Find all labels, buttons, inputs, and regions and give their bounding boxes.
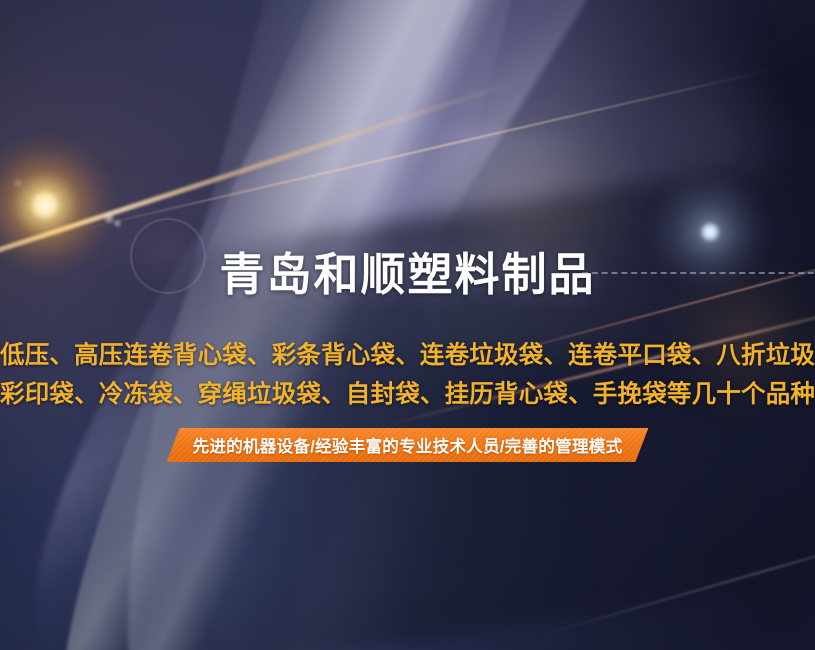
tagline-text: 先进的机器设备/经验丰富的专业技术人员/完善的管理模式 — [193, 433, 623, 457]
tagline-container: 先进的机器设备/经验丰富的专业技术人员/完善的管理模式 — [0, 428, 815, 462]
banner-subtitle-line-1: 低压、高压连卷背心袋、彩条背心袋、连卷垃圾袋、连卷平口袋、八折垃圾袋、 — [0, 336, 815, 371]
banner-title: 青岛和顺塑料制品 — [0, 250, 815, 300]
tagline-badge: 先进的机器设备/经验丰富的专业技术人员/完善的管理模式 — [167, 428, 649, 462]
banner-content: 青岛和顺塑料制品 低压、高压连卷背心袋、彩条背心袋、连卷垃圾袋、连卷平口袋、八折… — [0, 0, 815, 650]
banner-subtitle-line-2: 彩印袋、冷冻袋、穿绳垃圾袋、自封袋、挂历背心袋、手挽袋等几十个品种 — [0, 375, 815, 410]
promotional-banner: 青岛和顺塑料制品 低压、高压连卷背心袋、彩条背心袋、连卷垃圾袋、连卷平口袋、八折… — [0, 0, 815, 650]
